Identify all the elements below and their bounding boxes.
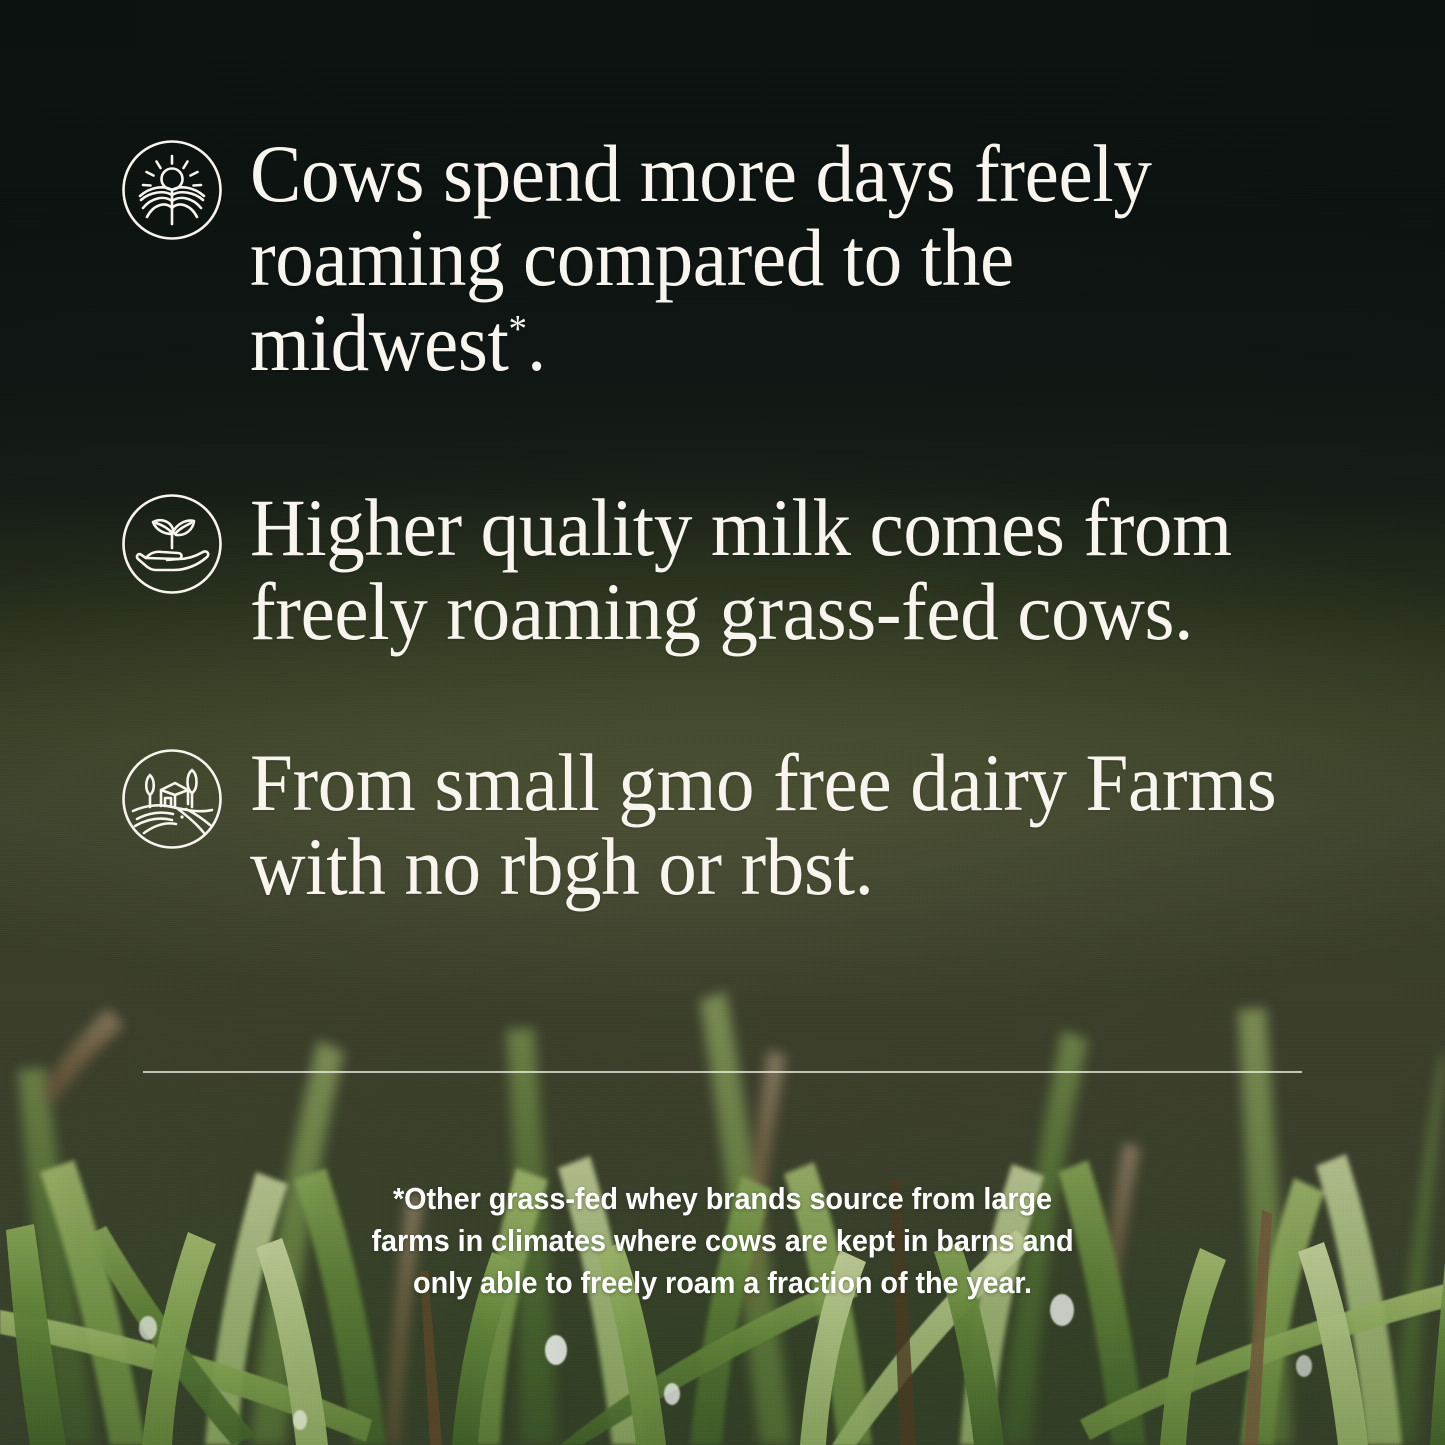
benefit-text: From small gmo free dairy Farms with no … [250, 741, 1303, 910]
benefit-item-quality: Higher quality milk comes from freely ro… [120, 486, 1385, 655]
footnote-line-1: *Other grass-fed whey brands source from… [51, 1178, 1395, 1220]
footnote-line-2: farms in climates where cows are kept in… [51, 1220, 1395, 1262]
footnote-line-3: only able to freely roam a fraction of t… [51, 1262, 1395, 1304]
benefit-item-roaming: Cows spend more days freely roaming comp… [120, 132, 1385, 385]
content-layer: Cows spend more days freely roaming comp… [0, 0, 1445, 1445]
benefit-text-tail: . [527, 297, 546, 388]
benefit-text-main: From small gmo free dairy Farms with no … [250, 737, 1276, 912]
farm-barn-fields-icon [120, 747, 224, 851]
benefit-item-farms: From small gmo free dairy Farms with no … [120, 741, 1385, 910]
footnote-disclaimer: *Other grass-fed whey brands source from… [51, 1178, 1395, 1304]
hand-holding-sprout-icon [120, 492, 224, 596]
footnote-marker: * [509, 307, 528, 351]
benefit-text: Cows spend more days freely roaming comp… [250, 132, 1246, 385]
sun-over-fields-icon [120, 138, 224, 242]
benefit-text: Higher quality milk comes from freely ro… [250, 486, 1317, 655]
benefit-text-main: Higher quality milk comes from freely ro… [250, 482, 1232, 657]
section-divider [143, 1071, 1302, 1073]
benefit-text-main: Cows spend more days freely roaming comp… [250, 128, 1152, 388]
promotional-graphic: Cows spend more days freely roaming comp… [0, 0, 1445, 1445]
